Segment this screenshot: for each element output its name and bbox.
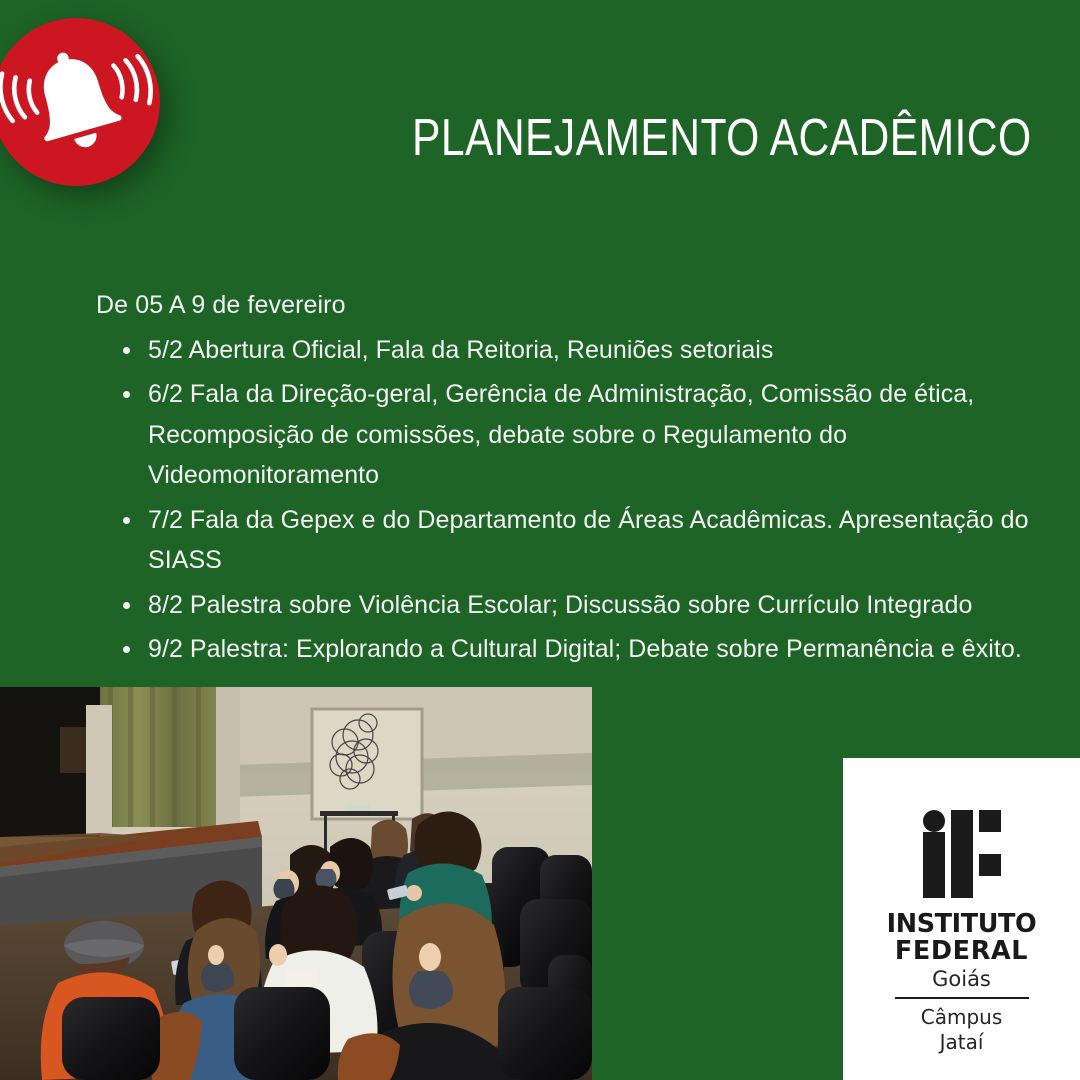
institution-logo-card: INSTITUTO FEDERAL Goiás Câmpus Jataí bbox=[843, 758, 1080, 1080]
notification-badge bbox=[0, 18, 160, 186]
date-range-line: De 05 A 9 de fevereiro bbox=[96, 288, 1040, 324]
list-item: 7/2 Fala da Gepex e do Departamento de Á… bbox=[96, 500, 1040, 581]
agenda-list: 5/2 Abertura Oficial, Fala da Reitoria, … bbox=[96, 330, 1040, 670]
auditorium-photo-illustration bbox=[0, 687, 592, 1080]
poster-canvas: PLANEJAMENTO ACADÊMICO De 05 A 9 de feve… bbox=[0, 0, 1080, 1080]
list-item: 9/2 Palestra: Explorando a Cultural Digi… bbox=[96, 629, 1040, 670]
campus-label-block: Câmpus Jataí bbox=[921, 1005, 1003, 1055]
list-item: 6/2 Fala da Direção-geral, Gerência de A… bbox=[96, 374, 1040, 496]
ringing-bell-icon bbox=[0, 18, 160, 186]
logo-divider bbox=[895, 997, 1029, 999]
campus-name: Jataí bbox=[921, 1030, 1003, 1055]
logo-wordmark: INSTITUTO FEDERAL Goiás bbox=[887, 912, 1037, 990]
page-title: PLANEJAMENTO ACADÊMICO bbox=[412, 112, 1032, 164]
logo-line-goias: Goiás bbox=[887, 969, 1037, 990]
logo-line-instituto: INSTITUTO bbox=[887, 912, 1037, 938]
event-photo bbox=[0, 687, 592, 1080]
list-item: 5/2 Abertura Oficial, Fala da Reitoria, … bbox=[96, 330, 1040, 371]
logo-line-federal: FEDERAL bbox=[887, 939, 1037, 965]
agenda-block: De 05 A 9 de fevereiro 5/2 Abertura Ofic… bbox=[96, 288, 1040, 674]
campus-word: Câmpus bbox=[921, 1005, 1003, 1030]
list-item: 8/2 Palestra sobre Violência Escolar; Di… bbox=[96, 585, 1040, 626]
instituto-federal-mark bbox=[923, 810, 1001, 898]
